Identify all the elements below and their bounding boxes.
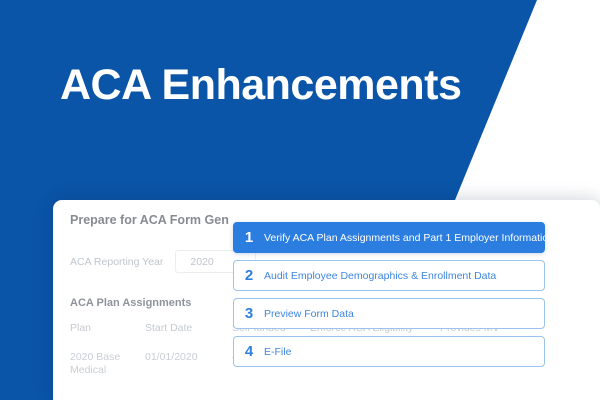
step-number-4: 4 [234,343,264,360]
step-number-2: 2 [234,267,264,284]
step-label-3: Preview Form Data [264,308,354,320]
column-header-start-date: Start Date [145,322,232,334]
reporting-year-label: ACA Reporting Year [70,256,163,268]
app-heading: Prepare for ACA Form Gen [70,213,229,227]
cell-start-date: 01/01/2020 [145,351,232,364]
steps-overlay: 1 Verify ACA Plan Assignments and Part 1… [233,222,545,374]
step-item-1[interactable]: 1 Verify ACA Plan Assignments and Part 1… [233,222,545,253]
step-item-4[interactable]: 4 E-File [233,336,545,367]
cell-plan: 2020 Base Medical [70,351,145,378]
step-label-1: Verify ACA Plan Assignments and Part 1 E… [264,232,554,244]
screenshot-root: ACA Enhancements Prepare for ACA Form Ge… [0,0,600,400]
reporting-year-row: ACA Reporting Year 2020 [70,250,256,273]
reporting-year-value: 2020 [190,256,213,268]
step-label-4: E-File [264,346,291,358]
step-number-1: 1 [234,229,264,246]
column-header-plan: Plan [70,322,145,334]
step-number-3: 3 [234,305,264,322]
page-title: ACA Enhancements [60,62,461,109]
step-label-2: Audit Employee Demographics & Enrollment… [264,270,496,282]
step-item-2[interactable]: 2 Audit Employee Demographics & Enrollme… [233,260,545,291]
step-item-3[interactable]: 3 Preview Form Data [233,298,545,329]
plan-assignments-title: ACA Plan Assignments [70,297,191,309]
